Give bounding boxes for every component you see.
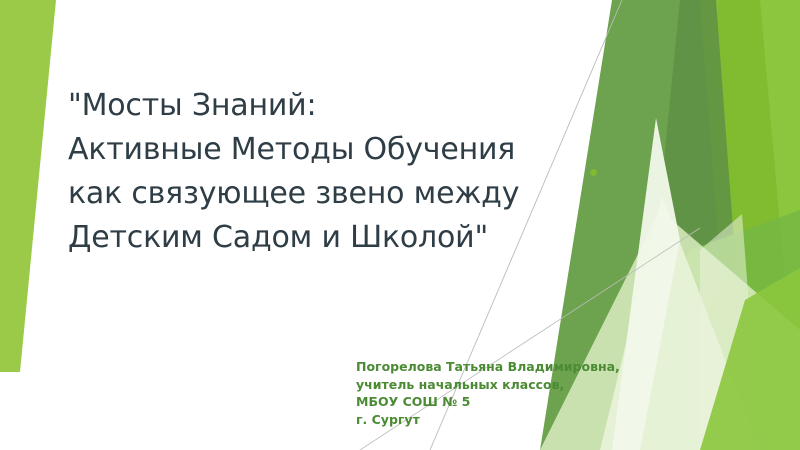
dark-green-overlap-wedge <box>660 0 736 310</box>
title-line-4: Детским Садом и Школой" <box>68 216 588 260</box>
bottom-right-lime-block <box>700 268 800 450</box>
subtitle-line-author: Погорелова Татьяна Владимировна, <box>356 358 620 376</box>
slide-title: "Мосты Знаний: Активные Методы Обучения … <box>68 84 588 260</box>
subtitle-line-school: МБОУ СОШ № 5 <box>356 393 620 411</box>
title-line-2: Активные Методы Обучения <box>68 128 588 172</box>
slide-subtitle-author-block: Погорелова Татьяна Владимировна, учитель… <box>356 358 620 428</box>
green-dot-icon <box>590 169 597 176</box>
pale-highlight-sliver <box>700 214 760 450</box>
title-line-3: как связующее звено между <box>68 172 588 216</box>
right-lime-wedge <box>640 0 800 450</box>
faint-green-sliver <box>612 118 680 450</box>
mid-green-lower-wedge <box>600 210 800 450</box>
subtitle-line-role: учитель начальных классов, <box>356 376 620 394</box>
title-line-1: "Мосты Знаний: <box>68 84 588 128</box>
very-pale-green-triangle <box>600 196 760 450</box>
right-bright-green-band <box>660 0 800 450</box>
left-green-stripe <box>0 0 56 372</box>
presentation-slide: "Мосты Знаний: Активные Методы Обучения … <box>0 0 800 450</box>
subtitle-line-city: г. Сургут <box>356 411 620 429</box>
